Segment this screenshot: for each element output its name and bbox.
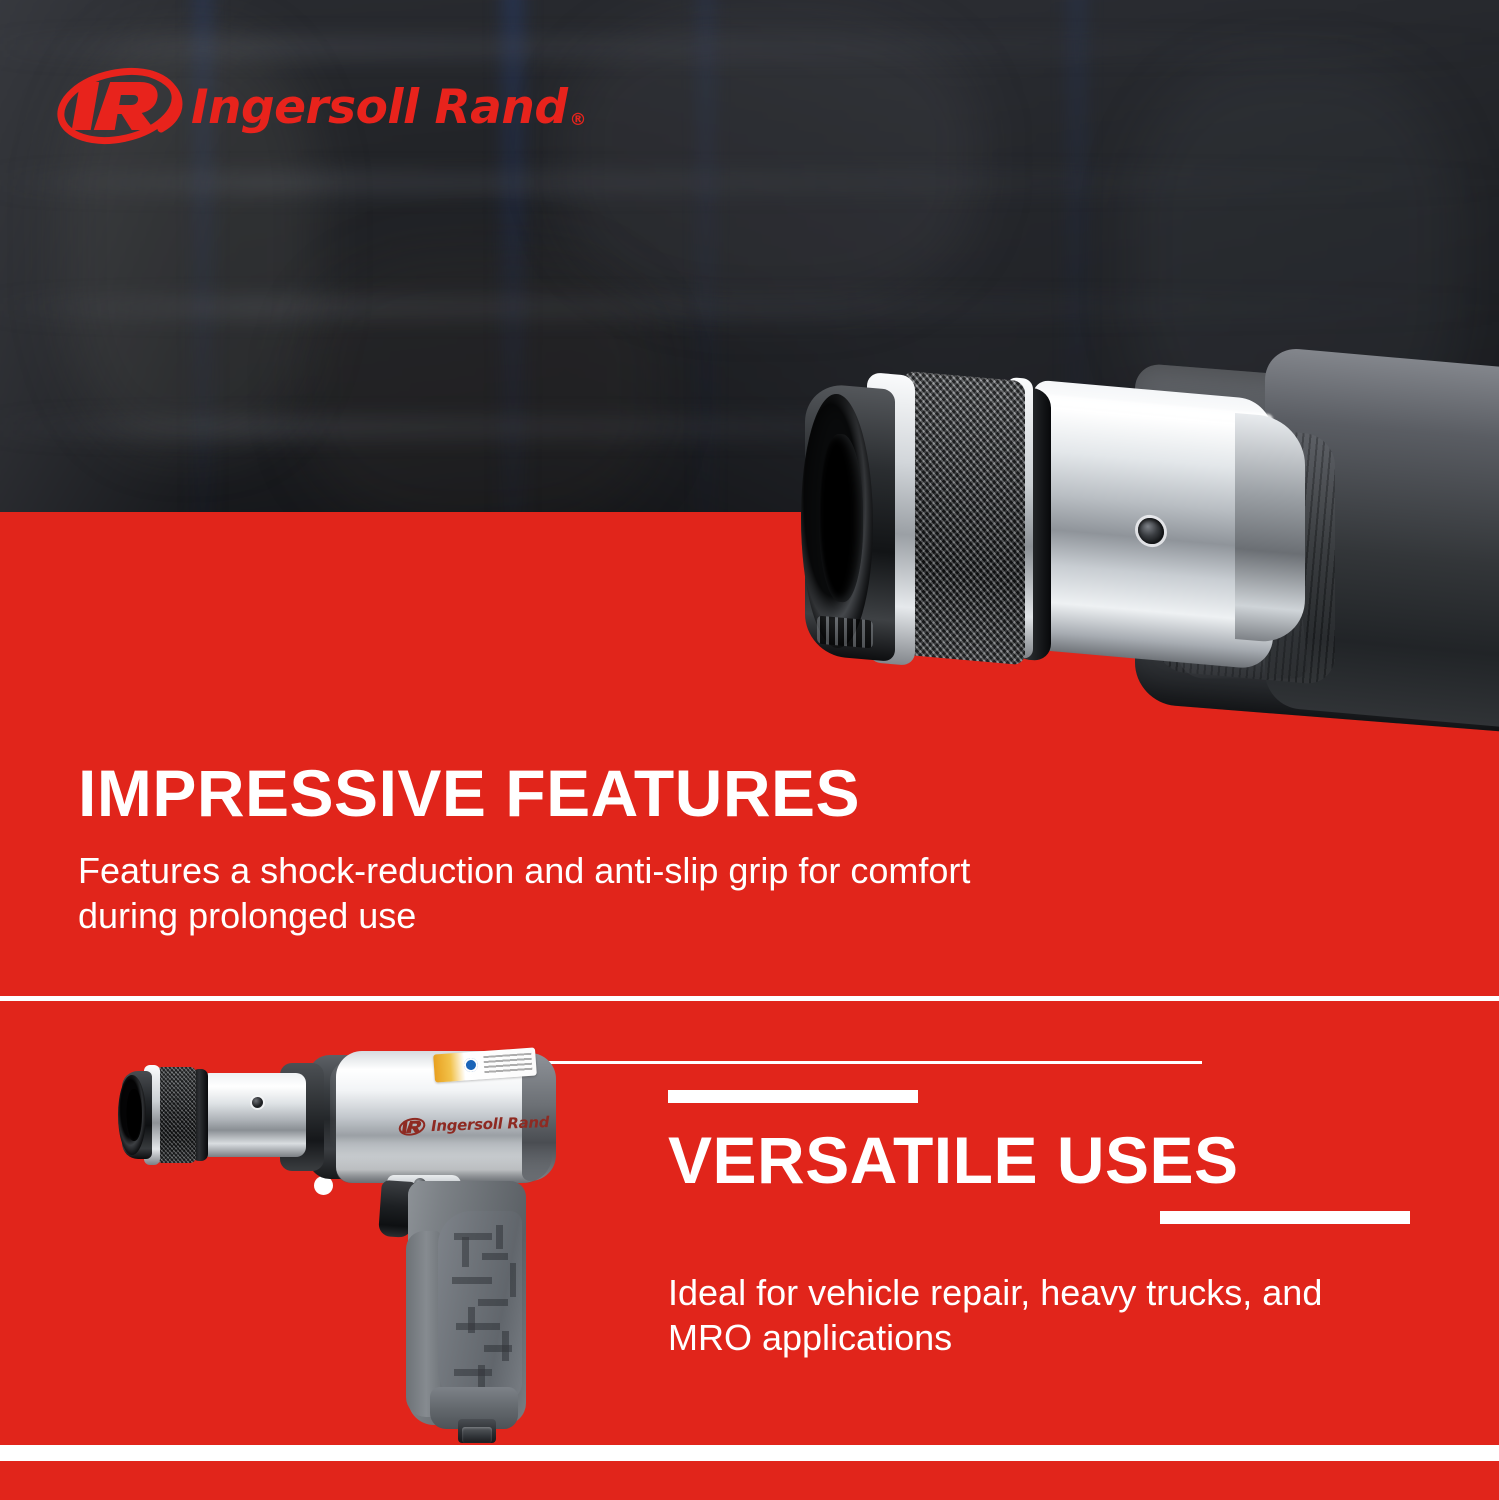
set-screw [252,1097,263,1108]
retainer-slots [817,616,873,649]
features-body-copy: Features a shock-reduction and anti-slip… [78,848,1038,938]
uses-body-copy: Ideal for vehicle repair, heavy trucks, … [668,1270,1388,1360]
background-blur-shape [300,250,660,513]
uses-headline: VERSATILE USES [668,1125,1448,1195]
knurled-collar [156,1067,196,1163]
air-hammer-full-product: Ingersoll Rand [140,1035,600,1435]
footer-white-band [0,1445,1499,1461]
product-feature-poster: Ingersoll Rand® IMPRESSIVE FEATURES Feat… [0,0,1499,1500]
brand-logo: Ingersoll Rand® [55,63,495,147]
uses-rule-bottom [1160,1211,1410,1224]
grip-texture-pattern [448,1219,516,1389]
ir-monogram-icon-small [398,1116,429,1137]
features-headline: IMPRESSIVE FEATURES [78,758,1078,828]
features-text-block: IMPRESSIVE FEATURES Features a shock-red… [78,758,1078,938]
air-hammer-barrel-closeup [795,368,1499,738]
sticker-text-lines [483,1053,532,1074]
registered-trademark-icon: ® [570,110,587,130]
brand-name-text: Ingersoll Rand® [191,80,586,135]
air-inlet-hex-fitting [462,1427,492,1443]
hex-shank-bore [126,1089,142,1141]
body-logo: Ingersoll Rand [398,1111,529,1140]
safety-symbol-icon [463,1058,478,1073]
knurled-band [903,371,1025,666]
uses-rule-top [668,1090,918,1103]
hex-shank-bore [819,432,863,604]
background-blur-shape [560,10,980,310]
chrome-barrel [202,1073,306,1157]
footer-red-band [0,1461,1499,1500]
ir-monogram-icon [55,66,195,144]
uses-text-block: VERSATILE USES Ideal for vehicle repair,… [668,1090,1448,1360]
textured-grip [438,1211,522,1401]
barrel-shoulder [1235,413,1305,645]
